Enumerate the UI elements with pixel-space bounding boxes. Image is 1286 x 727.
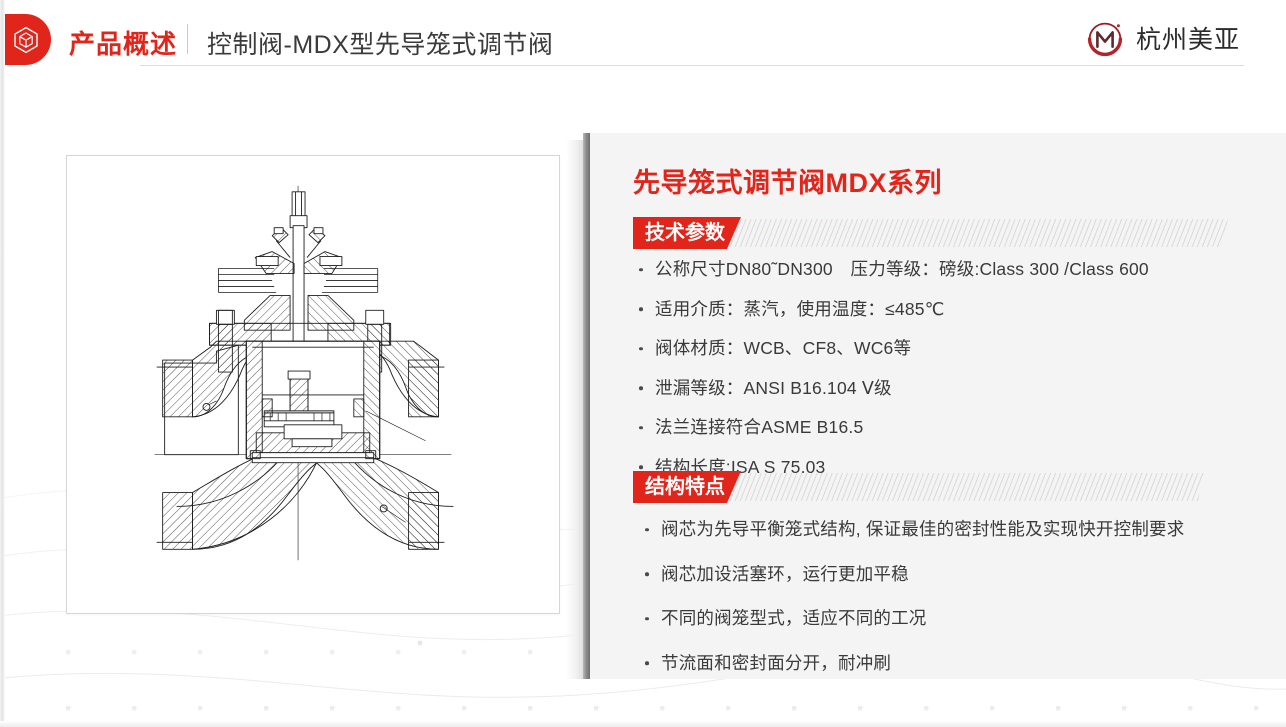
header-divider [187, 24, 188, 54]
brand-name: 杭州美亚 [1136, 20, 1240, 56]
panel-fold-shadow [583, 133, 590, 679]
slide-page: 产品概述 控制阀-MDX型先导笼式调节阀 杭州美亚 [0, 0, 1286, 727]
panel-fold-highlight [566, 140, 584, 679]
section-header-tech-params: 技术参数 [633, 217, 1234, 249]
section-tag-label: 结构特点 [633, 471, 741, 503]
meiya-m-circle-logo [1085, 17, 1127, 59]
section-tag-label: 技术参数 [633, 217, 741, 249]
page-title: 产品概述 [69, 24, 177, 61]
list-item: 适用介质：蒸汽，使用温度：≤485℃ [637, 301, 1149, 319]
list-item: 不同的阀笼型式，适应不同的工况 [643, 610, 1184, 628]
cube-hexagon-icon [13, 26, 39, 54]
page-subtitle: 控制阀-MDX型先导笼式调节阀 [207, 25, 553, 61]
header-rule [140, 65, 1244, 66]
page-bottom-edge [0, 721, 1286, 727]
list-item: 节流面和密封面分开，耐冲刷 [643, 655, 1184, 673]
product-figure-card [66, 155, 560, 614]
page-header: 产品概述 控制阀-MDX型先导笼式调节阀 杭州美亚 [0, 0, 1286, 80]
list-item: 阀芯为先导平衡笼式结构, 保证最佳的密封性能及实现快开控制要求 [643, 521, 1184, 539]
list-item: 阀芯加设活塞环，运行更加平稳 [643, 566, 1184, 584]
control-valve-cross-section-drawing [67, 156, 559, 613]
header-badge [0, 14, 51, 65]
tech-params-list: 公称尺寸DN80˜DN300 压力等级：磅级:Class 300 /Class … [637, 261, 1149, 476]
list-item: 阀体材质：WCB、CF8、WC6等 [637, 340, 1149, 358]
list-item: 公称尺寸DN80˜DN300 压力等级：磅级:Class 300 /Class … [637, 261, 1149, 279]
spec-panel: 先导笼式调节阀MDX系列 技术参数 公称尺寸DN80˜DN300 压力等级：磅级… [589, 133, 1286, 679]
page-left-edge [0, 0, 5, 727]
list-item: 法兰连接符合ASME B16.5 [637, 419, 1149, 437]
list-item: 泄漏等级：ANSI B16.104 Ⅴ级 [637, 380, 1149, 398]
section-header-structure-features: 结构特点 [633, 471, 1234, 503]
panel-title: 先导笼式调节阀MDX系列 [633, 161, 942, 200]
structure-features-list: 阀芯为先导平衡笼式结构, 保证最佳的密封性能及实现快开控制要求 阀芯加设活塞环，… [643, 521, 1184, 672]
brand-block: 杭州美亚 [1085, 17, 1240, 59]
